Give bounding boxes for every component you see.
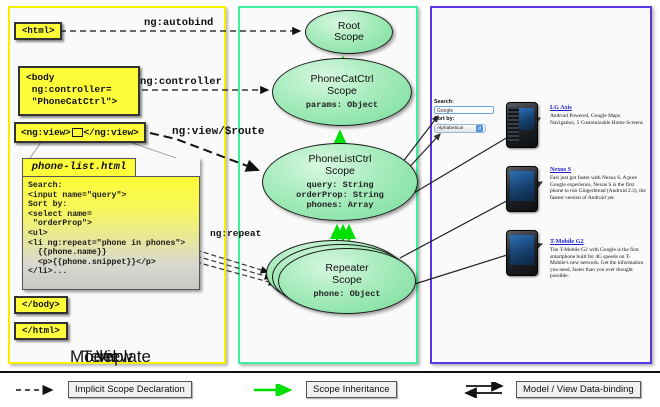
scope-phonecatctrl-name: PhoneCatCtrl Scope bbox=[310, 74, 373, 97]
phone-name-link[interactable]: T-Mobile G2 bbox=[550, 238, 646, 245]
html-close-tag: </html> bbox=[14, 322, 68, 340]
panel-label-view: View bbox=[96, 347, 133, 367]
legend-item-implicit-scope: Implicit Scope Declaration bbox=[14, 381, 192, 398]
body-open-tag: <body ng:controller= "PhoneCatCtrl"> bbox=[18, 66, 140, 116]
template-file-card: phone-list.html Search: <input name="que… bbox=[22, 158, 200, 290]
scope-repeater: Repeater Scope phone: Object bbox=[278, 248, 416, 314]
scope-phonelistctrl-vars: query: String orderProp: String phones: … bbox=[296, 180, 384, 210]
diagram-canvas: <html> <body ng:controller= "PhoneCatCtr… bbox=[0, 0, 660, 405]
ngview-tag: <ng:view></ng:view> bbox=[14, 122, 146, 143]
scope-root-name: Root Scope bbox=[334, 21, 364, 44]
connector-label-controller: ng:controller bbox=[140, 76, 222, 88]
legend-label: Model / View Data-binding bbox=[516, 381, 641, 398]
phone-thumbnail-lg-axis bbox=[506, 102, 538, 148]
scope-repeater-vars: phone: Object bbox=[313, 289, 380, 299]
scope-phonelistctrl: PhoneListCtrl Scope query: String orderP… bbox=[262, 143, 418, 221]
view-search-form: Search: Google Sort by: Alphabetical ⇵ bbox=[434, 99, 496, 133]
connector-label-autobind: ng:autobind bbox=[144, 17, 213, 29]
scope-phonecatctrl: PhoneCatCtrl Scope params: Object bbox=[272, 58, 412, 126]
phone-screen bbox=[510, 171, 534, 201]
scope-root: Root Scope bbox=[305, 10, 393, 54]
connector-label-route: ng:view/$route bbox=[172, 126, 264, 138]
sort-label: Sort by: bbox=[434, 116, 496, 122]
ngview-close-label: </ng:view> bbox=[84, 127, 139, 138]
ngview-slot-icon bbox=[72, 128, 83, 137]
phone-name-link[interactable]: Nexus S bbox=[550, 166, 646, 173]
phone-listing-item: Nexus S Fast just got faster with Nexus … bbox=[550, 166, 646, 201]
legend-label: Implicit Scope Declaration bbox=[68, 381, 192, 398]
legend-label: Scope Inheritance bbox=[306, 381, 397, 398]
search-input[interactable]: Google bbox=[434, 106, 494, 114]
phone-listing-item: LG Axis Android Powered, Google Maps Nav… bbox=[550, 104, 646, 126]
scope-repeater-name: Repeater Scope bbox=[325, 263, 368, 286]
legend-item-scope-inheritance: Scope Inheritance bbox=[252, 381, 397, 398]
template-filename: phone-list.html bbox=[23, 159, 135, 176]
sort-select[interactable]: Alphabetical ⇵ bbox=[434, 124, 486, 133]
double-arrow-icon bbox=[462, 382, 510, 398]
chevron-down-icon: ⇵ bbox=[476, 125, 483, 132]
html-open-tag: <html> bbox=[14, 22, 62, 40]
phone-snippet: The T-Mobile G2 with Google is the first… bbox=[550, 247, 646, 280]
scope-phonelistctrl-name: PhoneListCtrl Scope bbox=[308, 154, 371, 177]
phone-thumbnail-tmobile-g2 bbox=[506, 230, 538, 276]
phone-name-link[interactable]: LG Axis bbox=[550, 104, 646, 111]
dashed-arrow-icon bbox=[14, 384, 62, 396]
template-file-body: Search: <input name="query"> Sort by: <s… bbox=[22, 176, 200, 290]
search-label: Search: bbox=[434, 99, 496, 105]
phone-thumbnail-nexus-s bbox=[506, 166, 538, 212]
template-file-code: Search: <input name="query"> Sort by: <s… bbox=[28, 181, 194, 277]
phone-snippet: Android Powered, Google Maps Navigation,… bbox=[550, 113, 646, 126]
sort-select-value: Alphabetical bbox=[437, 124, 463, 133]
phone-screen bbox=[510, 235, 534, 265]
solid-arrow-icon bbox=[252, 384, 300, 396]
phone-listing-item: T-Mobile G2 The T-Mobile G2 with Google … bbox=[550, 238, 646, 280]
ngview-open-label: <ng:view> bbox=[21, 127, 71, 138]
phone-screen bbox=[519, 108, 534, 130]
phone-snippet: Fast just got faster with Nexus S. A pur… bbox=[550, 175, 646, 201]
connector-label-repeat: ng:repeat bbox=[210, 228, 261, 239]
template-file-tab: phone-list.html bbox=[22, 158, 136, 177]
body-close-tag: </body> bbox=[14, 296, 68, 314]
phone-keyboard bbox=[508, 107, 519, 143]
scope-phonecatctrl-vars: params: Object bbox=[306, 100, 378, 110]
legend: Implicit Scope Declaration Scope Inherit… bbox=[0, 371, 660, 407]
legend-item-data-binding: Model / View Data-binding bbox=[462, 381, 641, 398]
